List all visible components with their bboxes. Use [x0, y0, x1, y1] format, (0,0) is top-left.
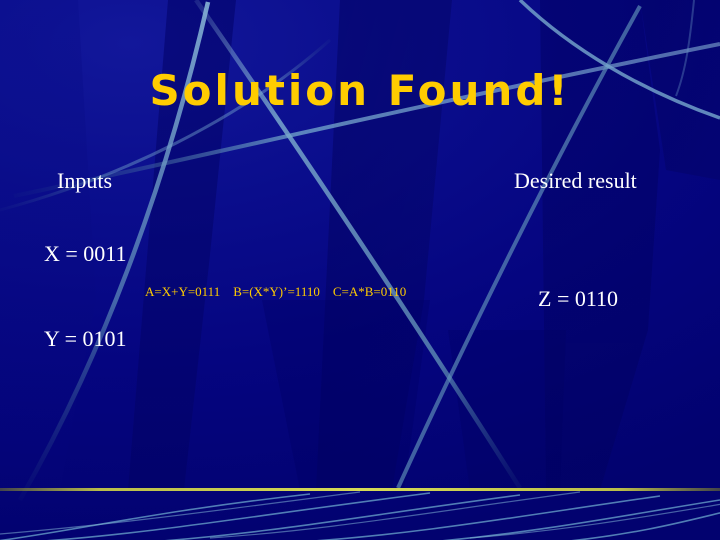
- equation-c: C=A*B=0110: [333, 284, 406, 300]
- input-value-y: Y = 0101: [44, 326, 126, 352]
- equation-a: A=X+Y=0111: [145, 284, 220, 300]
- slide-title: Solution Found!: [0, 66, 720, 115]
- presentation-slide: Solution Found! Inputs Desired result X …: [0, 0, 720, 540]
- footer-swoosh-decoration: [0, 490, 720, 540]
- equation-b: B=(X*Y)’=1110: [233, 284, 320, 300]
- desired-result-label: Desired result: [514, 168, 637, 194]
- output-value-z: Z = 0110: [538, 286, 618, 312]
- inputs-label: Inputs: [57, 168, 112, 194]
- input-value-x: X = 0011: [44, 241, 126, 267]
- equation-row: A=X+Y=0111B=(X*Y)’=1110C=A*B=0110: [145, 284, 525, 302]
